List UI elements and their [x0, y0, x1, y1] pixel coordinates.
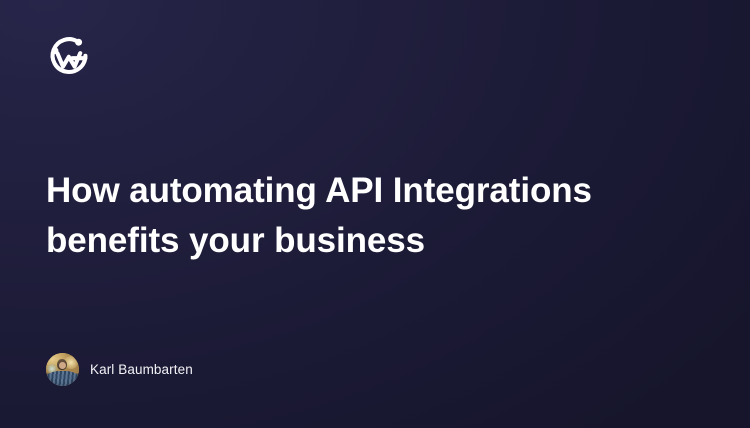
title-slide: How automating API Integrations benefits… — [0, 0, 750, 428]
avatar-vignette — [46, 353, 79, 386]
brand-logo[interactable] — [45, 32, 93, 80]
author-byline: Karl Baumbarten — [46, 353, 193, 386]
avatar — [46, 353, 79, 386]
slide-title-line-1: How automating API Integrations — [46, 166, 686, 216]
gw-monogram-icon — [45, 32, 93, 80]
author-name: Karl Baumbarten — [90, 362, 193, 377]
slide-title: How automating API Integrations benefits… — [46, 166, 686, 266]
slide-title-line-2: benefits your business — [46, 216, 686, 266]
